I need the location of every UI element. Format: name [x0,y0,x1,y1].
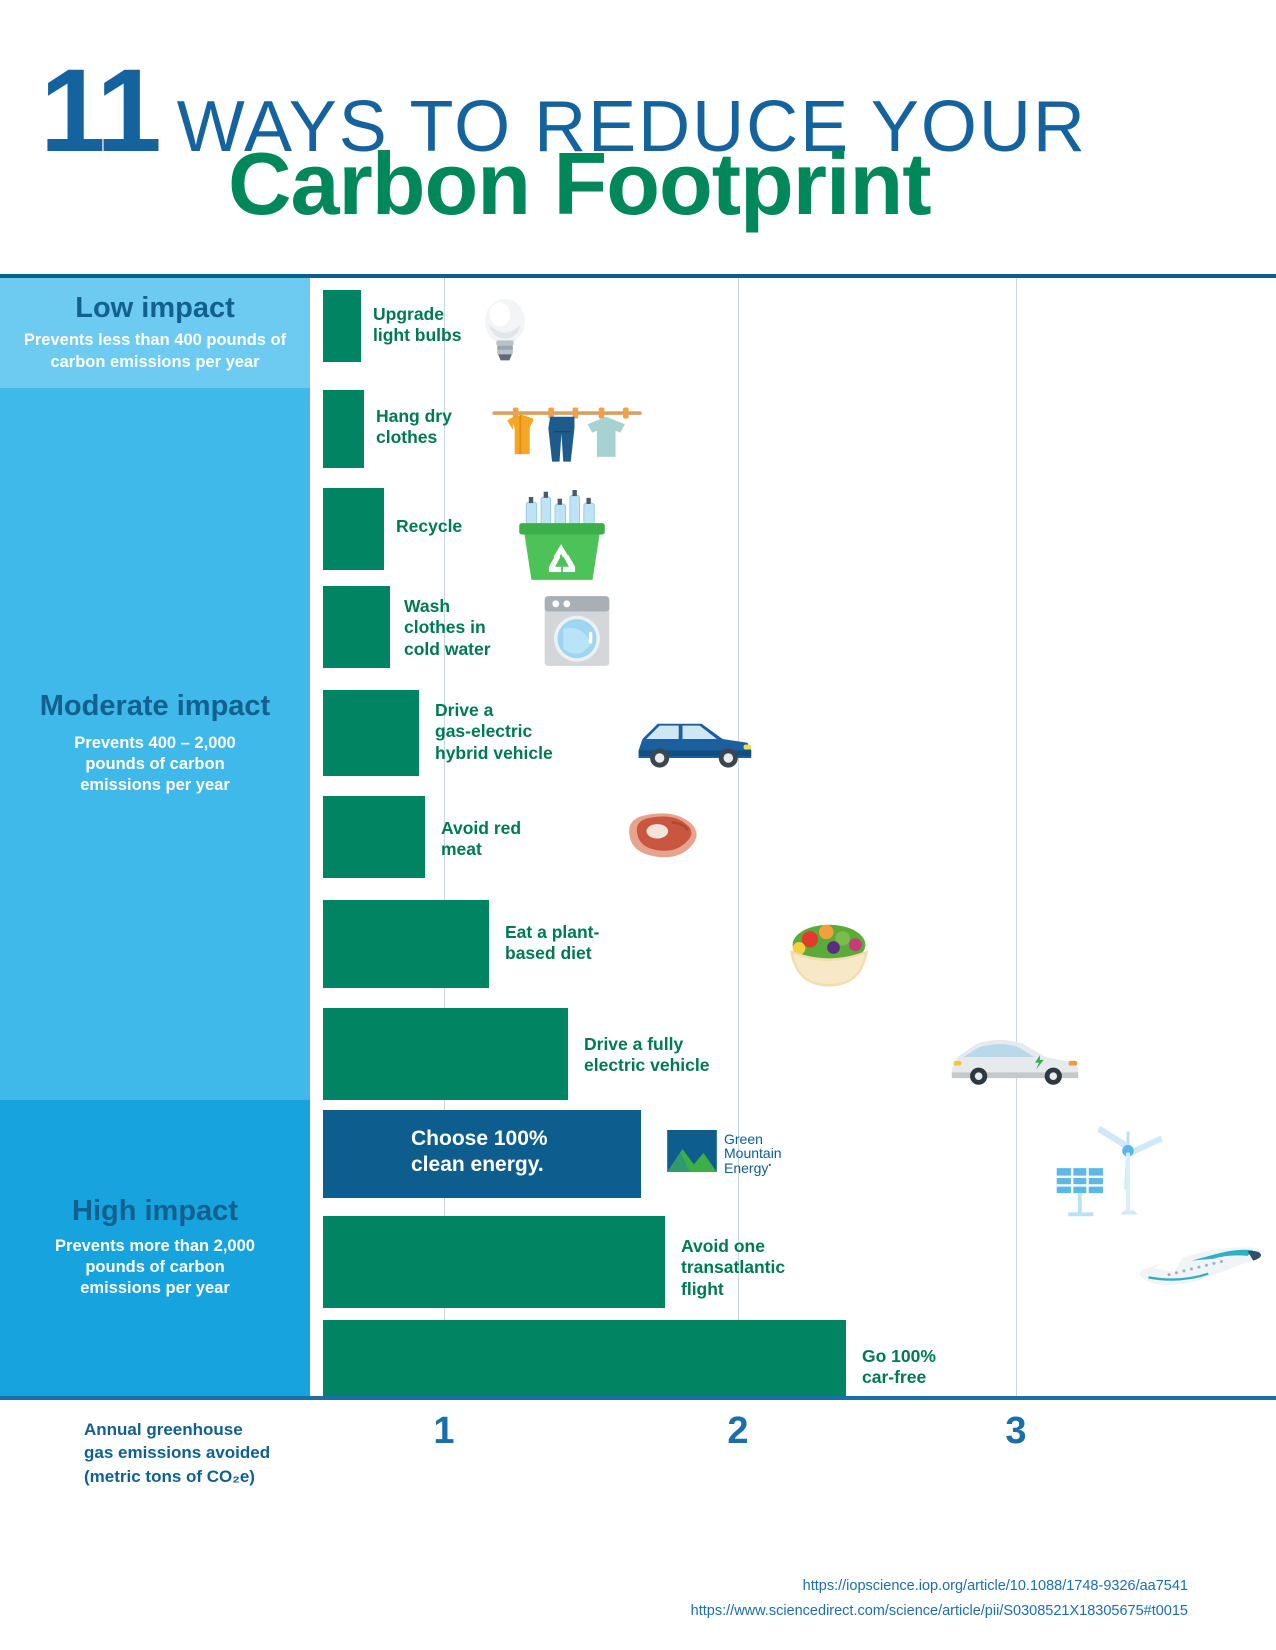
electric-car-icon [948,1030,1082,1086]
hybrid-car-icon [631,708,755,768]
bar-salad-bowl [323,900,489,988]
chart-area: Low impact Prevents less than 400 pounds… [0,278,1276,1396]
green-mountain-energy-logo: GreenMountainEnergy• [667,1130,782,1177]
gridline-3 [1016,278,1017,1396]
axis-tick-1: 1 [433,1410,454,1453]
recycle-bin-icon [514,490,610,586]
airplane-icon [1127,1240,1269,1298]
page-footer: https://iopscience.iop.org/article/10.10… [0,1506,1276,1650]
brand-line-3: Energy• [724,1161,782,1176]
bar-inner-label: Choose 100% clean energy. [411,1126,548,1179]
chart-axis: Annual greenhouse gas emissions avoided … [0,1396,1276,1506]
brand-line-2: Mountain [724,1146,782,1161]
impact-band-moderate-title: Moderate impact [40,691,270,722]
bar-steak [323,796,425,878]
clothesline-icon [492,400,642,484]
impact-band-high: High impact Prevents more than 2,000 pou… [0,1100,310,1396]
washing-machine-icon [543,594,611,668]
impact-band-low: Low impact Prevents less than 400 pounds… [0,278,310,388]
impact-band-moderate: Moderate impact Prevents 400 – 2,000 pou… [0,388,310,1100]
brand-line-1: Green [724,1132,782,1147]
source-link-1[interactable]: https://iopscience.iop.org/article/10.10… [803,1578,1188,1594]
bar-electric-car [323,1008,568,1100]
gridline-2 [738,278,739,1396]
page-header: 11 WAYS TO REDUCE YOUR Carbon Footprint [0,0,1276,278]
bar-label: Recycle [396,516,462,537]
impact-band-high-subtitle: Prevents more than 2,000 pounds of carbo… [48,1236,263,1300]
mountain-icon [667,1130,717,1177]
steak-icon [621,806,699,862]
headline-emphasis: Carbon Footprint [228,140,931,228]
headline-number: 11 [40,52,159,170]
bar-label: Avoid one transatlantic flight [681,1236,785,1300]
brand-wordmark: GreenMountainEnergy• [724,1132,782,1176]
bar-recycle-bin [323,488,384,570]
bar-label: Drive a gas-electric hybrid vehicle [435,700,553,764]
bar-light-bulb [323,290,361,362]
bar-clothesline [323,390,364,468]
bar-label: Go 100% car-free [862,1346,936,1389]
bar-airplane [323,1216,665,1308]
axis-tick-3: 3 [1005,1410,1026,1453]
wind-solar-icon [1039,1118,1165,1224]
salad-bowl-icon [779,910,879,994]
plot-region: Upgrade light bulbs Hang dry clothes Rec… [323,278,1276,1396]
axis-tick-2: 2 [727,1410,748,1453]
bar-label: Avoid red meat [441,818,521,861]
band-edge-divider [310,278,323,1396]
impact-band-moderate-subtitle: Prevents 400 – 2,000 pounds of carbon em… [50,733,260,797]
axis-caption: Annual greenhouse gas emissions avoided … [84,1418,270,1488]
bar-label: Upgrade light bulbs [373,304,461,347]
light-bulb-icon [479,295,531,365]
bar-label: Wash clothes in cold water [404,596,491,660]
impact-band-low-subtitle: Prevents less than 400 pounds of carbon … [16,330,294,373]
source-link-2[interactable]: https://www.sciencedirect.com/science/ar… [691,1603,1188,1619]
impact-band-low-title: Low impact [75,293,235,324]
bar-label: Drive a fully electric vehicle [584,1034,710,1077]
bar-label: Eat a plant- based diet [505,922,599,965]
impact-band-high-title: High impact [72,1196,238,1227]
bar-hybrid-car [323,690,419,776]
bar-label: Hang dry clothes [376,406,452,449]
bar-washing-machine [323,586,390,668]
